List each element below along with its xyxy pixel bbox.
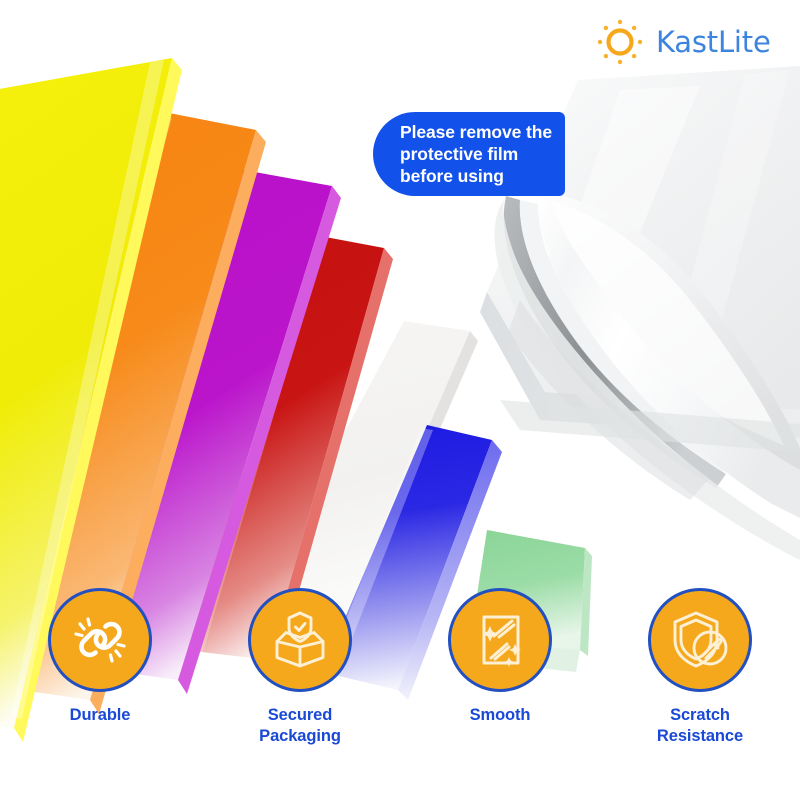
feature-smooth: Smooth — [400, 588, 600, 778]
feature-durable-circle — [48, 588, 152, 692]
feature-scratch-resistance: Scratch Resistance — [600, 588, 800, 778]
banner-line-1: Please remove the — [400, 122, 552, 142]
sun-icon — [592, 14, 648, 70]
feature-row: Durable — [0, 588, 800, 778]
smooth-panel-icon — [464, 604, 536, 676]
brand-name: KastLite — [656, 25, 771, 59]
feature-smooth-circle — [448, 588, 552, 692]
feature-smooth-label: Smooth — [470, 705, 531, 726]
secured-box-icon — [264, 604, 336, 676]
feature-scratch-resistance-label: Scratch Resistance — [657, 705, 743, 746]
brand-logo: KastLite — [592, 14, 771, 70]
shield-knife-icon — [664, 604, 736, 676]
banner-line-2: protective film — [400, 144, 518, 164]
feature-secured-packaging: Secured Packaging — [200, 588, 400, 778]
feature-secured-packaging-label: Secured Packaging — [259, 705, 341, 746]
sun-icon-glyph — [592, 14, 648, 70]
feature-secured-packaging-circle — [248, 588, 352, 692]
feature-durable-label: Durable — [70, 705, 131, 726]
banner-line-3: before using — [400, 166, 504, 186]
feature-durable: Durable — [0, 588, 200, 778]
instruction-banner: Please remove theprotective filmbefore u… — [373, 112, 565, 196]
instruction-banner-text: Please remove theprotective filmbefore u… — [400, 121, 552, 188]
feature-scratch-resistance-circle — [648, 588, 752, 692]
product-image-canvas: KastLite Please remove theprotective fil… — [0, 0, 800, 800]
chain-link-icon — [64, 604, 136, 676]
